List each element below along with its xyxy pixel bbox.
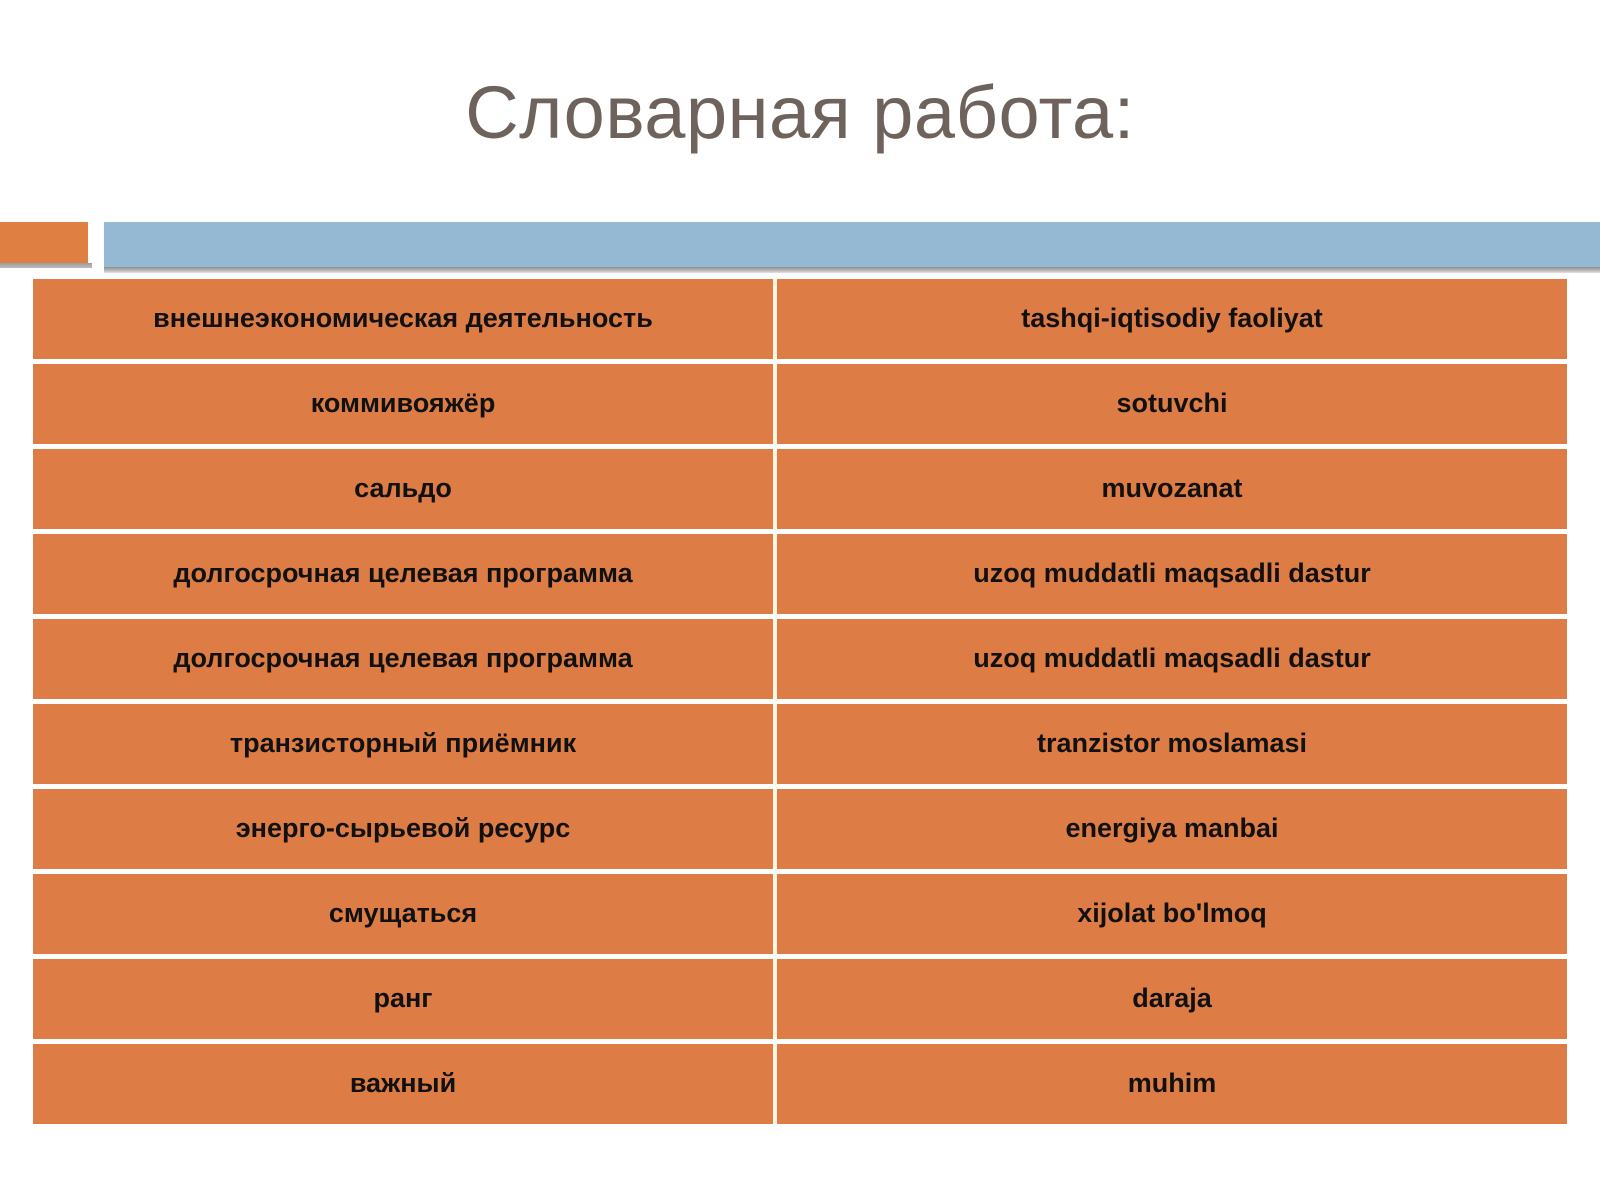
table-cell-text: xijolat bo'lmoq <box>787 898 1557 929</box>
table-row: долгосрочная целевая программа uzoq mudd… <box>33 619 1567 704</box>
table-row: коммивояжёр sotuvchi <box>33 364 1567 449</box>
table-row: ранг daraja <box>33 959 1567 1044</box>
table-cell-uzbek: xijolat bo'lmoq <box>777 874 1567 959</box>
table-cell-uzbek: tranzistor moslamasi <box>777 704 1567 789</box>
table-cell-uzbek: sotuvchi <box>777 364 1567 449</box>
table-cell-text: daraja <box>787 983 1557 1014</box>
table-cell-text: важный <box>43 1068 763 1099</box>
divider-blue-bar <box>104 222 1600 267</box>
table-cell-text: долгосрочная целевая программа <box>43 643 763 674</box>
divider-blue-shadow <box>104 267 1600 273</box>
table-cell-text: muvozanat <box>787 473 1557 504</box>
table-cell-text: muhim <box>787 1068 1557 1099</box>
vocabulary-table-body: внешнеэкономическая деятельность tashqi-… <box>33 279 1567 1124</box>
table-cell-russian: сальдо <box>33 449 777 534</box>
table-cell-uzbek: daraja <box>777 959 1567 1044</box>
table-cell-russian: коммивояжёр <box>33 364 777 449</box>
table-row: энерго-сырьевой ресурс energiya manbai <box>33 789 1567 874</box>
table-cell-text: коммивояжёр <box>43 388 763 419</box>
table-cell-text: tranzistor moslamasi <box>787 728 1557 759</box>
table-cell-russian: внешнеэкономическая деятельность <box>33 279 777 364</box>
table-cell-text: энерго-сырьевой ресурс <box>43 813 763 844</box>
table-row: смущаться xijolat bo'lmoq <box>33 874 1567 959</box>
table-cell-text: energiya manbai <box>787 813 1557 844</box>
table-row: внешнеэкономическая деятельность tashqi-… <box>33 279 1567 364</box>
table-cell-uzbek: energiya manbai <box>777 789 1567 874</box>
table-cell-uzbek: tashqi-iqtisodiy faoliyat <box>777 279 1567 364</box>
vocabulary-table: внешнеэкономическая деятельность tashqi-… <box>33 279 1567 1124</box>
table-row: важный muhim <box>33 1044 1567 1124</box>
divider-orange-shadow <box>0 263 92 268</box>
table-cell-text: долгосрочная целевая программа <box>43 558 763 589</box>
table-cell-uzbek: muvozanat <box>777 449 1567 534</box>
title-divider-band <box>0 215 1600 271</box>
table-cell-text: транзисторный приёмник <box>43 728 763 759</box>
table-cell-text: ранг <box>43 983 763 1014</box>
table-cell-russian: долгосрочная целевая программа <box>33 619 777 704</box>
table-cell-text: uzoq muddatli maqsadli dastur <box>787 643 1557 674</box>
table-cell-russian: долгосрочная целевая программа <box>33 534 777 619</box>
table-cell-text: сальдо <box>43 473 763 504</box>
table-cell-text: внешнеэкономическая деятельность <box>43 303 763 334</box>
table-cell-russian: смущаться <box>33 874 777 959</box>
table-cell-text: tashqi-iqtisodiy faoliyat <box>787 303 1557 334</box>
table-cell-uzbek: uzoq muddatli maqsadli dastur <box>777 619 1567 704</box>
table-cell-text: sotuvchi <box>787 388 1557 419</box>
page-title: Словарная работа: <box>0 74 1600 152</box>
table-row: транзисторный приёмник tranzistor moslam… <box>33 704 1567 789</box>
divider-orange-block <box>0 222 88 263</box>
table-cell-uzbek: uzoq muddatli maqsadli dastur <box>777 534 1567 619</box>
table-cell-russian: ранг <box>33 959 777 1044</box>
table-cell-russian: транзисторный приёмник <box>33 704 777 789</box>
table-cell-text: смущаться <box>43 898 763 929</box>
table-cell-russian: важный <box>33 1044 777 1124</box>
table-row: сальдо muvozanat <box>33 449 1567 534</box>
table-cell-uzbek: muhim <box>777 1044 1567 1124</box>
table-cell-text: uzoq muddatli maqsadli dastur <box>787 558 1557 589</box>
table-cell-russian: энерго-сырьевой ресурс <box>33 789 777 874</box>
table-row: долгосрочная целевая программа uzoq mudd… <box>33 534 1567 619</box>
